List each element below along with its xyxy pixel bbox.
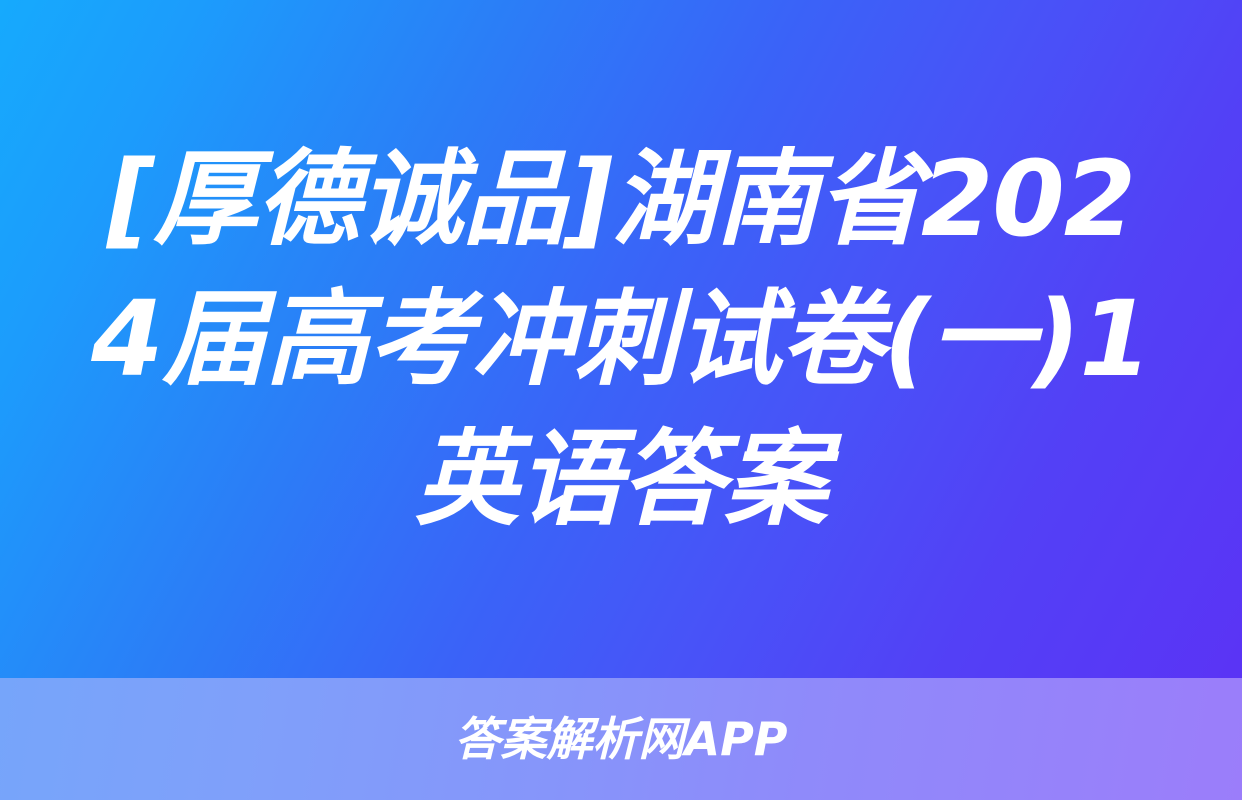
watermark-band: 答案解析网APP [0, 678, 1242, 800]
page-title: [厚德诚品]湖南省2024届高考冲刺试卷(一)1英语答案 [86, 129, 1156, 549]
watermark-label: 答案解析网APP [454, 713, 787, 765]
poster-canvas: [厚德诚品]湖南省2024届高考冲刺试卷(一)1英语答案 答案解析网APP [0, 0, 1242, 800]
title-block: [厚德诚品]湖南省2024届高考冲刺试卷(一)1英语答案 [0, 0, 1242, 678]
